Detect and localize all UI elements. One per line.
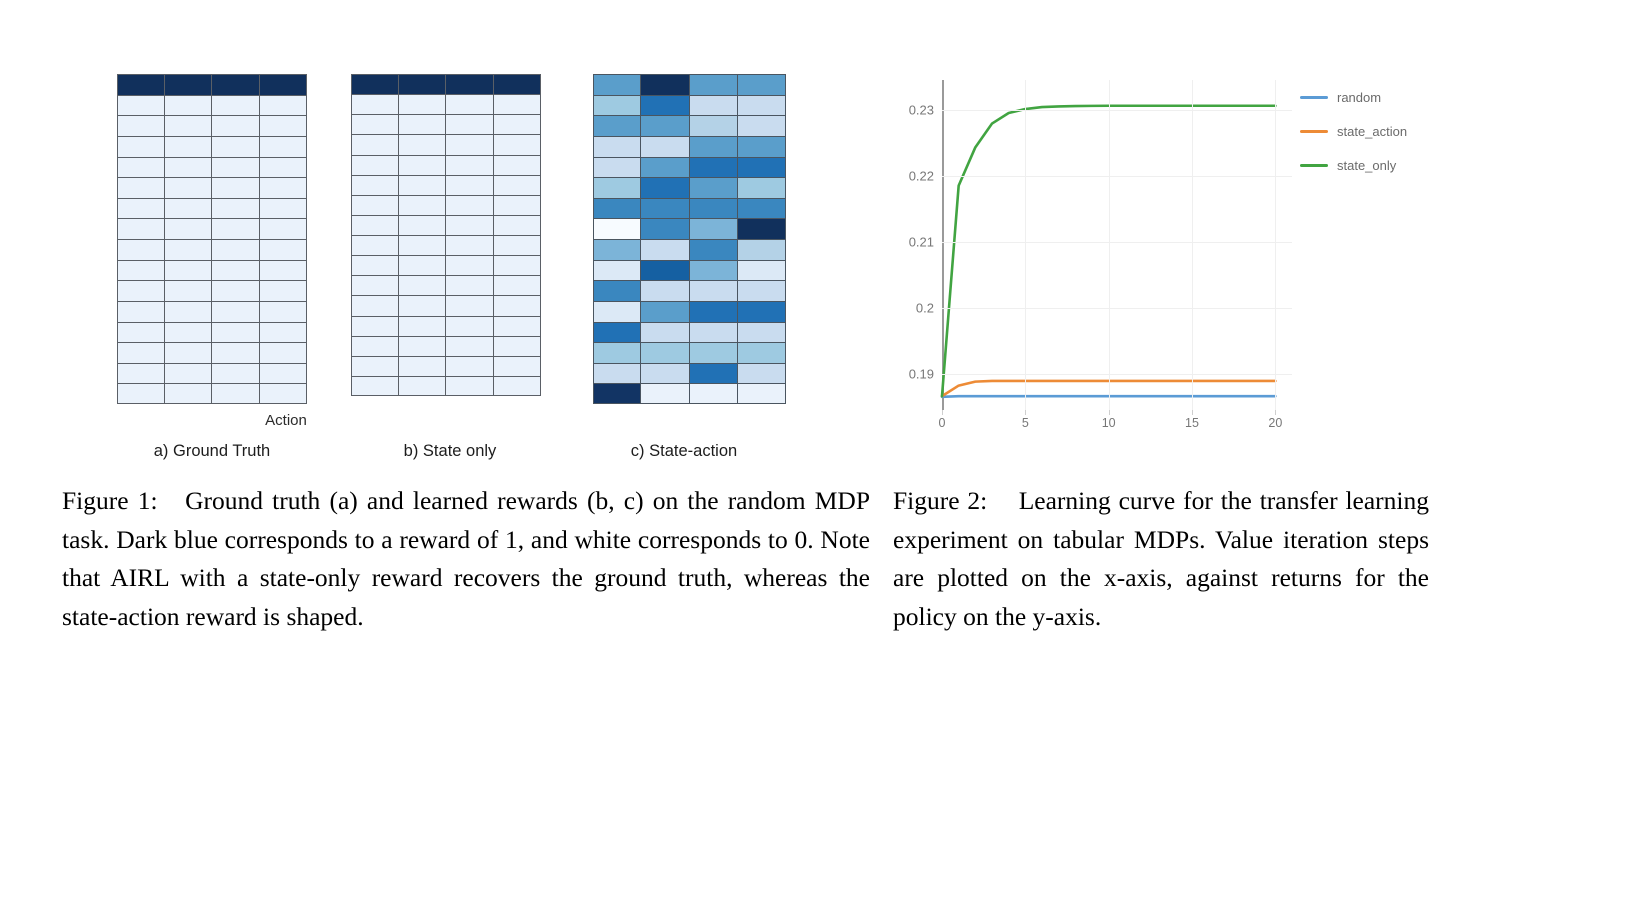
heatmap-cell	[690, 136, 738, 157]
heatmap-cell	[212, 363, 260, 384]
heatmap-cell	[738, 383, 786, 404]
heatmap-cell	[446, 175, 494, 195]
heatmap-cell	[399, 295, 447, 315]
heatmap-cell	[738, 239, 786, 260]
heatmap-cell	[165, 383, 213, 404]
heatmap-cell	[260, 74, 308, 95]
x-tick-label: 10	[1102, 416, 1116, 430]
heatmap-cell	[117, 322, 165, 343]
heatmap-cell	[260, 260, 308, 281]
legend-label: state_only	[1337, 158, 1396, 173]
heatmap-cell	[212, 342, 260, 363]
heatmap-cell	[738, 136, 786, 157]
heatmap-cell	[690, 239, 738, 260]
heatmap-cell	[738, 280, 786, 301]
heatmap-state-only	[351, 74, 541, 396]
heatmap-cell	[399, 376, 447, 396]
heatmap-cell	[165, 363, 213, 384]
heatmap-cell	[351, 134, 399, 154]
heatmap-cell	[399, 235, 447, 255]
heatmap-cell	[690, 322, 738, 343]
gridline-horizontal	[942, 242, 1292, 243]
figure-2-caption: Figure 2: Learning curve for the transfe…	[893, 482, 1429, 636]
figures-row: State Action a) Ground Truth b) State on…	[0, 0, 1640, 480]
heatmap-cell	[446, 255, 494, 275]
figure-1-panel: State Action a) Ground Truth b) State on…	[62, 60, 872, 480]
heatmap-cell	[351, 376, 399, 396]
heatmap-cell	[593, 322, 641, 343]
heatmap-cell	[117, 218, 165, 239]
heatmap-cell	[738, 198, 786, 219]
x-tick-label: 15	[1185, 416, 1199, 430]
heatmap-cell	[690, 74, 738, 95]
heatmap-cell	[117, 342, 165, 363]
heatmap-cell	[593, 198, 641, 219]
x-tick-label: 20	[1268, 416, 1282, 430]
x-tick-mark	[1109, 410, 1110, 415]
heatmap-cell	[690, 301, 738, 322]
heatmap-cell	[351, 275, 399, 295]
heatmap-cell	[351, 195, 399, 215]
heatmap-cell	[212, 95, 260, 116]
heatmap-cell	[165, 136, 213, 157]
heatmaps-group: State Action	[62, 60, 872, 410]
heatmap-cell	[593, 218, 641, 239]
heatmap-cell	[117, 177, 165, 198]
heatmap-cell	[212, 280, 260, 301]
heatmap-cell	[260, 218, 308, 239]
heatmap-cell	[399, 94, 447, 114]
y-tick-label: 0.22	[909, 168, 934, 183]
heatmap-cell	[351, 175, 399, 195]
plot-frame: 0.190.20.210.220.2305101520	[942, 80, 1292, 410]
heatmap-cell	[351, 336, 399, 356]
heatmap-cell	[260, 239, 308, 260]
heatmap-cell	[117, 280, 165, 301]
heatmap-cell	[212, 239, 260, 260]
gridline-vertical	[1025, 80, 1026, 410]
heatmap-cell	[446, 295, 494, 315]
heatmap-cell	[593, 280, 641, 301]
gridline-horizontal	[942, 374, 1292, 375]
heatmap-cell	[165, 115, 213, 136]
heatmap-cell	[641, 115, 689, 136]
heatmap-cell	[351, 155, 399, 175]
heatmap-cell	[117, 74, 165, 95]
legend-swatch-icon	[1300, 96, 1328, 99]
heatmap-cell	[641, 239, 689, 260]
heatmap-cell	[212, 260, 260, 281]
heatmap-cell	[593, 95, 641, 116]
heatmap-cell	[446, 336, 494, 356]
heatmap-state-action	[593, 74, 786, 404]
figure1-sub-captions: a) Ground Truth b) State only c) State-a…	[62, 442, 872, 470]
heatmap-cell	[399, 114, 447, 134]
heatmap-cell	[690, 342, 738, 363]
heatmap-cell	[260, 177, 308, 198]
legend-item-random[interactable]: random	[1300, 80, 1460, 114]
captions-row: Figure 1: Ground truth (a) and learned r…	[0, 482, 1640, 702]
heatmap-cell	[117, 136, 165, 157]
heatmap-cell	[117, 157, 165, 178]
heatmap-cell	[212, 74, 260, 95]
heatmap-cell	[165, 74, 213, 95]
heatmap-cell	[593, 74, 641, 95]
heatmap-cell	[593, 260, 641, 281]
heatmap-cell	[446, 215, 494, 235]
heatmap-cell	[641, 198, 689, 219]
y-tick-label: 0.23	[909, 102, 934, 117]
heatmap-cell	[351, 114, 399, 134]
heatmap-cell	[399, 215, 447, 235]
heatmap-cell	[446, 316, 494, 336]
heatmap-cell	[738, 301, 786, 322]
y-tick-label: 0.19	[909, 366, 934, 381]
heatmap-cell	[494, 94, 542, 114]
heatmap-cell	[399, 195, 447, 215]
heatmap-cell	[260, 342, 308, 363]
legend-label: random	[1337, 90, 1381, 105]
heatmap-cell	[446, 195, 494, 215]
heatmap-cell	[399, 336, 447, 356]
heatmap-cell	[351, 94, 399, 114]
legend-swatch-icon	[1300, 130, 1328, 133]
figure-1-caption-label: Figure 1:	[62, 486, 158, 515]
heatmap-cell	[738, 74, 786, 95]
curves-svg	[942, 80, 1292, 410]
heatmap-cell	[494, 316, 542, 336]
heatmap-cell	[212, 301, 260, 322]
heatmap-cell	[641, 74, 689, 95]
heatmap-cell	[165, 280, 213, 301]
heatmap-cell	[446, 134, 494, 154]
heatmap-cell	[260, 136, 308, 157]
heatmap-cell	[641, 260, 689, 281]
legend-item-state_only[interactable]: state_only	[1300, 148, 1460, 182]
heatmap-cell	[738, 157, 786, 178]
heatmap-cell	[738, 177, 786, 198]
gridline-vertical	[1192, 80, 1193, 410]
heatmap-cell	[494, 275, 542, 295]
heatmap-cell	[690, 383, 738, 404]
gridline-horizontal	[942, 176, 1292, 177]
heatmap-cell	[690, 157, 738, 178]
legend-swatch-icon	[1300, 164, 1328, 167]
heatmap-cell	[165, 157, 213, 178]
heatmap-cell	[690, 260, 738, 281]
sub-caption-ground-truth: a) Ground Truth	[102, 442, 322, 461]
heatmap-cell	[117, 115, 165, 136]
heatmap-cell	[351, 356, 399, 376]
x-tick-mark	[942, 410, 943, 415]
heatmap-cell	[494, 215, 542, 235]
heatmap-cell	[446, 74, 494, 94]
heatmap-cell	[738, 115, 786, 136]
heatmap-cell	[260, 157, 308, 178]
heatmap-cell	[117, 383, 165, 404]
heatmap-cell	[399, 155, 447, 175]
heatmap-cell	[494, 114, 542, 134]
gridline-horizontal	[942, 308, 1292, 309]
heatmap-cell	[593, 363, 641, 384]
heatmap-cell	[641, 301, 689, 322]
heatmap-cell	[117, 301, 165, 322]
heatmap-cell	[399, 134, 447, 154]
heatmap-cell	[494, 195, 542, 215]
heatmap-cell	[641, 342, 689, 363]
heatmap-cell	[593, 342, 641, 363]
heatmap-cell	[212, 136, 260, 157]
heatmap-cell	[212, 177, 260, 198]
heatmap-cell	[593, 383, 641, 404]
heatmap-cell	[494, 376, 542, 396]
sub-caption-state-only: b) State only	[340, 442, 560, 461]
heatmap-cell	[212, 383, 260, 404]
y-tick-label: 0.21	[909, 234, 934, 249]
x-tick-mark	[1025, 410, 1026, 415]
heatmap-cell	[165, 239, 213, 260]
heatmap-cell	[260, 322, 308, 343]
heatmap-cell	[351, 316, 399, 336]
heatmap-cell	[446, 114, 494, 134]
heatmap-cell	[641, 218, 689, 239]
legend-label: state_action	[1337, 124, 1407, 139]
heatmap-cell	[260, 280, 308, 301]
x-tick-label: 0	[939, 416, 946, 430]
heatmap-cell	[593, 115, 641, 136]
chart-legend: randomstate_actionstate_only	[1300, 80, 1460, 182]
heatmap-cell	[690, 198, 738, 219]
heatmap-cell	[641, 363, 689, 384]
heatmap-cell	[690, 177, 738, 198]
heatmap-cell	[260, 198, 308, 219]
heatmap-cell	[446, 94, 494, 114]
legend-item-state_action[interactable]: state_action	[1300, 114, 1460, 148]
gridline-horizontal	[942, 110, 1292, 111]
heatmap-cell	[641, 95, 689, 116]
heatmap-cell	[351, 74, 399, 94]
heatmap-cell	[690, 115, 738, 136]
heatmap-cell	[641, 177, 689, 198]
heatmap-cell	[641, 157, 689, 178]
heatmap-cell	[738, 260, 786, 281]
heatmap-cell	[494, 295, 542, 315]
heatmap-cell	[641, 383, 689, 404]
heatmap-cell	[117, 260, 165, 281]
heatmap-cell	[641, 136, 689, 157]
heatmap-cell	[351, 215, 399, 235]
heatmap-cell	[399, 175, 447, 195]
heatmap-ground-truth	[117, 74, 307, 404]
heatmap-cell	[351, 235, 399, 255]
x-tick-mark	[1192, 410, 1193, 415]
heatmap-cell	[738, 218, 786, 239]
heatmap-cell	[446, 356, 494, 376]
heatmap-cell	[593, 157, 641, 178]
x-tick-mark	[1275, 410, 1276, 415]
heatmap-cell	[446, 155, 494, 175]
heatmap-cell	[212, 218, 260, 239]
heatmap-cell	[641, 322, 689, 343]
heatmap-cell	[260, 363, 308, 384]
heatmap-cell	[165, 260, 213, 281]
heatmap-cell	[165, 342, 213, 363]
heatmap-cell	[399, 356, 447, 376]
heatmap-cell	[593, 239, 641, 260]
heatmap-cell	[165, 301, 213, 322]
heatmap-cell	[165, 322, 213, 343]
heatmap-cell	[212, 115, 260, 136]
heatmap-cell	[117, 239, 165, 260]
heatmap-cell	[690, 95, 738, 116]
figure1-x-axis-label: Action	[186, 412, 386, 429]
heatmap-cell	[351, 255, 399, 275]
heatmap-cell	[117, 198, 165, 219]
heatmap-cell	[260, 95, 308, 116]
heatmap-cell	[212, 198, 260, 219]
figure-2-panel: 0.190.20.210.220.2305101520 randomstate_…	[880, 60, 1480, 460]
heatmap-cell	[494, 336, 542, 356]
heatmap-cell	[690, 280, 738, 301]
heatmap-cell	[399, 255, 447, 275]
heatmap-cell	[494, 356, 542, 376]
gridline-vertical	[1109, 80, 1110, 410]
heatmap-cell	[165, 177, 213, 198]
heatmap-cell	[738, 322, 786, 343]
heatmap-cell	[260, 301, 308, 322]
heatmap-cell	[738, 342, 786, 363]
heatmap-cell	[738, 363, 786, 384]
heatmap-cell	[641, 280, 689, 301]
y-tick-label: 0.2	[916, 300, 934, 315]
heatmap-cell	[494, 134, 542, 154]
heatmap-cell	[212, 157, 260, 178]
heatmap-cell	[212, 322, 260, 343]
heatmap-cell	[165, 198, 213, 219]
heatmap-cell	[117, 95, 165, 116]
heatmap-cell	[260, 383, 308, 404]
heatmap-cell	[165, 95, 213, 116]
learning-curve-chart: 0.190.20.210.220.2305101520 randomstate_…	[880, 60, 1460, 440]
x-tick-label: 5	[1022, 416, 1029, 430]
heatmap-cell	[494, 175, 542, 195]
heatmap-cell	[399, 275, 447, 295]
heatmap-cell	[399, 316, 447, 336]
heatmap-cell	[738, 95, 786, 116]
figure-1-caption: Figure 1: Ground truth (a) and learned r…	[62, 482, 870, 636]
heatmap-cell	[399, 74, 447, 94]
heatmap-cell	[494, 235, 542, 255]
heatmap-cell	[165, 218, 213, 239]
heatmap-cell	[593, 136, 641, 157]
heatmap-cell	[494, 74, 542, 94]
sub-caption-state-action: c) State-action	[574, 442, 794, 461]
heatmap-cell	[260, 115, 308, 136]
heatmap-cell	[690, 218, 738, 239]
heatmap-cell	[593, 301, 641, 322]
gridline-vertical	[1275, 80, 1276, 410]
figure-2-caption-label: Figure 2:	[893, 486, 987, 515]
heatmap-cell	[494, 255, 542, 275]
heatmap-cell	[446, 235, 494, 255]
heatmap-cell	[690, 363, 738, 384]
heatmap-cell	[117, 363, 165, 384]
heatmap-cell	[446, 376, 494, 396]
heatmap-cell	[351, 295, 399, 315]
heatmap-cell	[593, 177, 641, 198]
heatmap-cell	[494, 155, 542, 175]
heatmap-cell	[446, 275, 494, 295]
